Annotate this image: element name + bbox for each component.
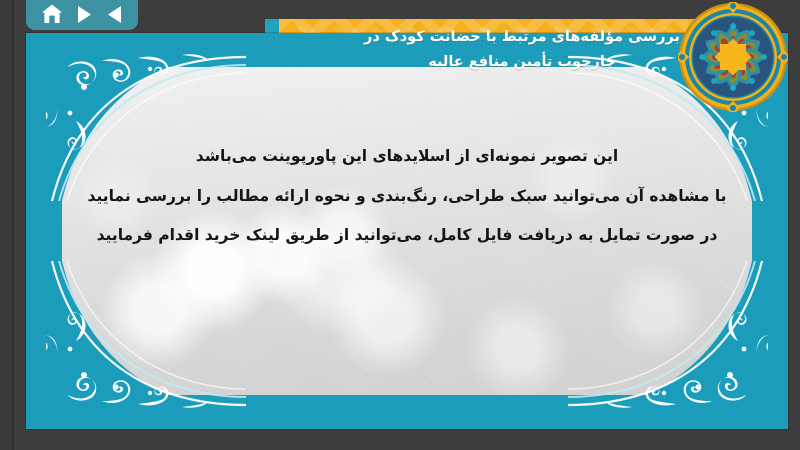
islamic-mandala-medallion: [678, 2, 788, 112]
body-line-2: با مشاهده آن می‌توانید سبک طراحی، رنگ‌بن…: [66, 177, 748, 217]
body-line-1: این تصویر نمونه‌ای از اسلایدهای این پاور…: [66, 137, 748, 177]
slide-navigation-bar: [26, 0, 138, 30]
slide-frame: این تصویر نمونه‌ای از اسلایدهای این پاور…: [26, 33, 788, 429]
triangle-right-icon[interactable]: [76, 5, 93, 24]
triangle-left-icon[interactable]: [106, 5, 123, 24]
slide-body-text: این تصویر نمونه‌ای از اسلایدهای این پاور…: [66, 137, 748, 256]
home-icon[interactable]: [41, 4, 63, 24]
body-line-3: در صورت تمایل به دریافت فایل کامل، می‌تو…: [66, 216, 748, 256]
slide-viewer: بررسی مؤلفه‌های مرتبط با حضانت کودک در چ…: [0, 0, 800, 450]
